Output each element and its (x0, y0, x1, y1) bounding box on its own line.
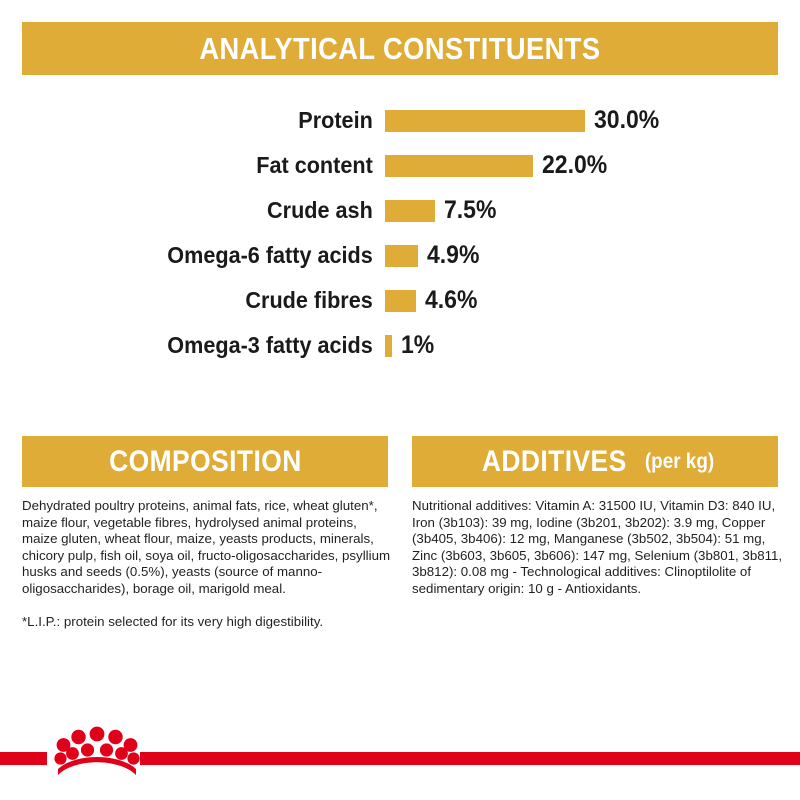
bar-label: Protein (23, 107, 385, 134)
bar-value: 4.6% (425, 286, 477, 315)
additives-text-column: Nutritional additives: Vitamin A: 31500 … (412, 498, 784, 597)
bar-fill (385, 200, 435, 222)
chart-row: Crude fibres 4.6% (0, 284, 800, 317)
bar-value: 7.5% (444, 196, 496, 225)
bar-value: 1% (401, 331, 434, 360)
bar-label: Omega-6 fatty acids (23, 242, 385, 269)
composition-body: Dehydrated poultry proteins, animal fats… (22, 498, 394, 597)
bar-track: 7.5% (385, 196, 800, 225)
additives-body: Nutritional additives: Vitamin A: 31500 … (412, 498, 784, 597)
bar-label: Crude ash (23, 197, 385, 224)
bar-track: 4.6% (385, 286, 800, 315)
bar-value: 4.9% (427, 241, 479, 270)
composition-text-column: Dehydrated poultry proteins, animal fats… (22, 498, 394, 631)
bar-fill (385, 290, 416, 312)
bar-label: Crude fibres (23, 287, 385, 314)
chart-row: Crude ash 7.5% (0, 194, 800, 227)
footer-logo-strip (0, 700, 800, 800)
bar-track: 22.0% (385, 151, 800, 180)
bar-value: 22.0% (542, 151, 607, 180)
bar-fill (385, 335, 392, 357)
nutrition-info-page: ANALYTICAL CONSTITUENTS Protein 30.0% Fa… (0, 0, 800, 800)
bar-label: Omega-3 fatty acids (23, 332, 385, 359)
bar-fill (385, 110, 585, 132)
bar-label: Fat content (23, 152, 385, 179)
bar-track: 30.0% (385, 106, 800, 135)
bar-track: 1% (385, 331, 800, 360)
additives-subtitle: (per kg) (645, 450, 714, 474)
chart-row: Protein 30.0% (0, 104, 800, 137)
bar-track: 4.9% (385, 241, 800, 270)
chart-row: Omega-6 fatty acids 4.9% (0, 239, 800, 272)
footer-rule-left (0, 752, 47, 765)
composition-note: *L.I.P.: protein selected for its very h… (22, 614, 394, 631)
additives-banner: ADDITIVES (per kg) (412, 436, 778, 487)
chart-row: Fat content 22.0% (0, 149, 800, 182)
composition-banner: COMPOSITION (22, 436, 388, 487)
analytical-constituents-banner: ANALYTICAL CONSTITUENTS (22, 22, 778, 75)
bar-value: 30.0% (594, 106, 659, 135)
footer-rule-right (140, 752, 800, 765)
additives-title: ADDITIVES (482, 445, 627, 479)
chart-row: Omega-3 fatty acids 1% (0, 329, 800, 362)
bar-fill (385, 155, 533, 177)
bar-fill (385, 245, 418, 267)
analytical-constituents-title: ANALYTICAL CONSTITUENTS (199, 31, 600, 67)
analytical-constituents-chart: Protein 30.0% Fat content 22.0% Crude as… (0, 104, 800, 384)
composition-title: COMPOSITION (109, 445, 302, 479)
royal-canin-crown-icon (53, 725, 141, 780)
